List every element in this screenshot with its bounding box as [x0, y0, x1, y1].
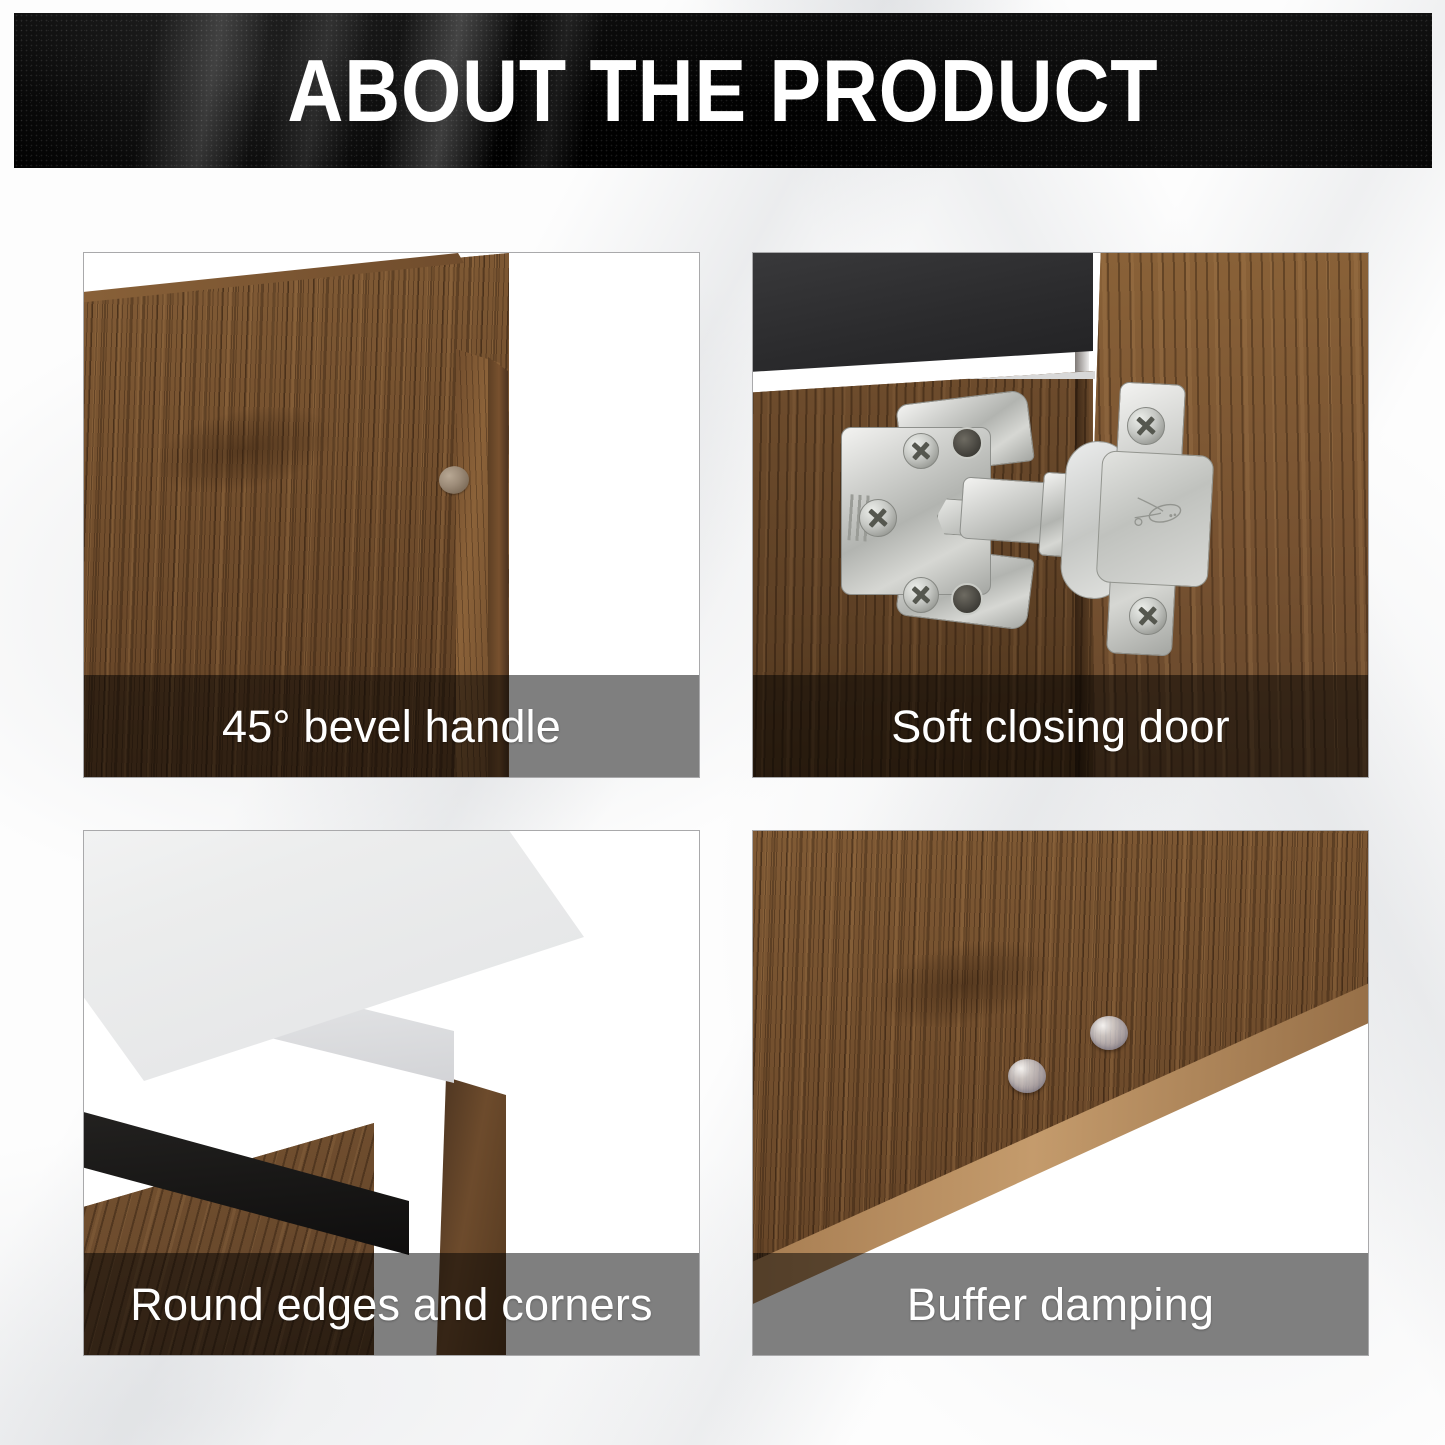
feature-panel-round-edges: Round edges and corners [83, 830, 700, 1356]
panel-caption-bar: Round edges and corners [84, 1253, 699, 1355]
phillips-screw-icon [903, 433, 939, 469]
buffer-dot-icon [1008, 1059, 1046, 1093]
caption-label: Soft closing door [891, 704, 1230, 749]
caption-label: Buffer damping [907, 1282, 1214, 1327]
caption-label: 45° bevel handle [222, 704, 561, 749]
hinge-screw-hole [951, 427, 983, 459]
page-title: ABOUT THE PRODUCT [287, 47, 1158, 135]
dark-top-panel [753, 253, 1093, 393]
feature-panel-buffer-damping: Buffer damping [752, 830, 1369, 1356]
panel-caption-bar: Soft closing door [753, 675, 1368, 777]
buffer-dot-icon [1090, 1016, 1128, 1050]
phillips-screw-icon [1127, 407, 1165, 445]
phillips-screw-icon [859, 499, 897, 537]
feature-panel-soft-closing-door: Soft closing door [752, 252, 1369, 778]
header-banner: ABOUT THE PRODUCT [14, 13, 1432, 168]
feature-panel-bevel-handle: 45° bevel handle [83, 252, 700, 778]
caption-label: Round edges and corners [130, 1282, 652, 1327]
feature-grid: 45° bevel handle [83, 252, 1358, 1356]
hinge-brand-logo-icon [1132, 494, 1186, 531]
hinge-screw-hole [951, 583, 983, 615]
concealed-hinge-icon [841, 399, 1261, 659]
phillips-screw-icon [903, 577, 939, 613]
panel-caption-bar: 45° bevel handle [84, 675, 699, 777]
phillips-screw-icon [1129, 597, 1167, 635]
panel-caption-bar: Buffer damping [753, 1253, 1368, 1355]
infographic-page: ABOUT THE PRODUCT 45° bevel handle [0, 0, 1445, 1445]
